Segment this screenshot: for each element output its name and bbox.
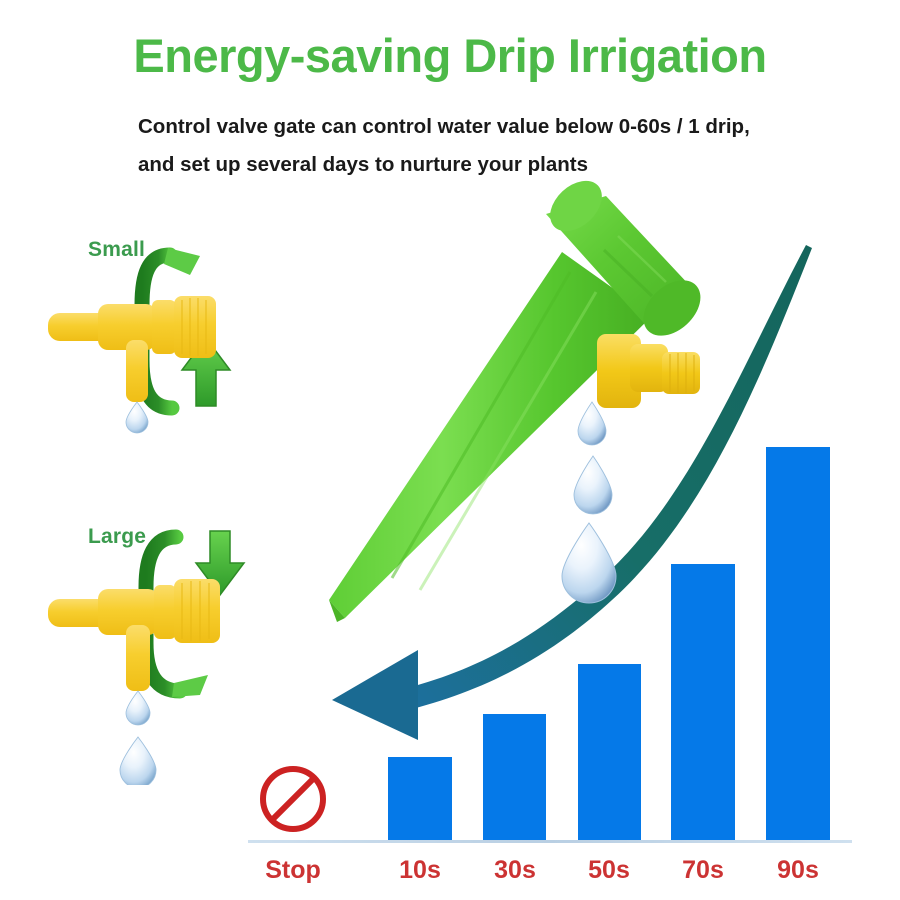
water-drop-3 <box>562 523 616 603</box>
water-drop-2 <box>574 456 612 514</box>
drip-irrigation-spike <box>0 0 900 900</box>
yellow-valve-body <box>597 334 700 408</box>
water-drop-1 <box>578 402 606 445</box>
infographic-canvas: Energy-saving Drip Irrigation Control va… <box>0 0 900 900</box>
